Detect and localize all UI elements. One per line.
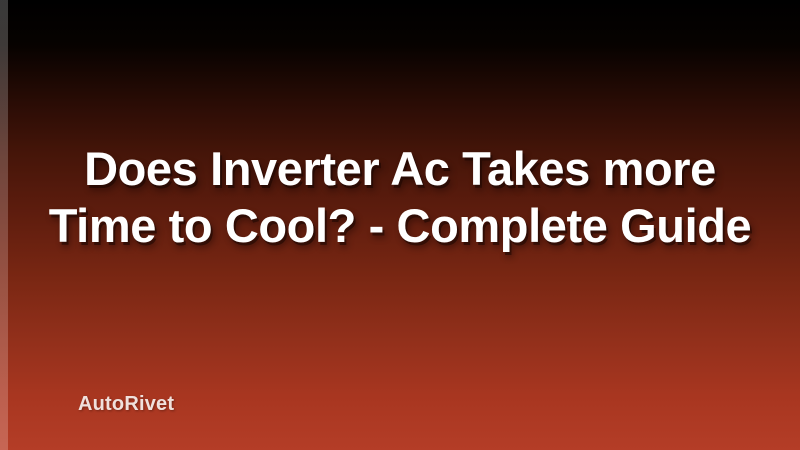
card-content: Does Inverter Ac Takes more Time to Cool… xyxy=(0,0,800,450)
brand-name: AutoRivet xyxy=(78,393,174,416)
title-container: Does Inverter Ac Takes more Time to Cool… xyxy=(0,0,800,393)
hero-card: Does Inverter Ac Takes more Time to Cool… xyxy=(0,0,800,450)
brand-container: AutoRivet xyxy=(0,393,800,450)
page-title: Does Inverter Ac Takes more Time to Cool… xyxy=(46,140,754,254)
